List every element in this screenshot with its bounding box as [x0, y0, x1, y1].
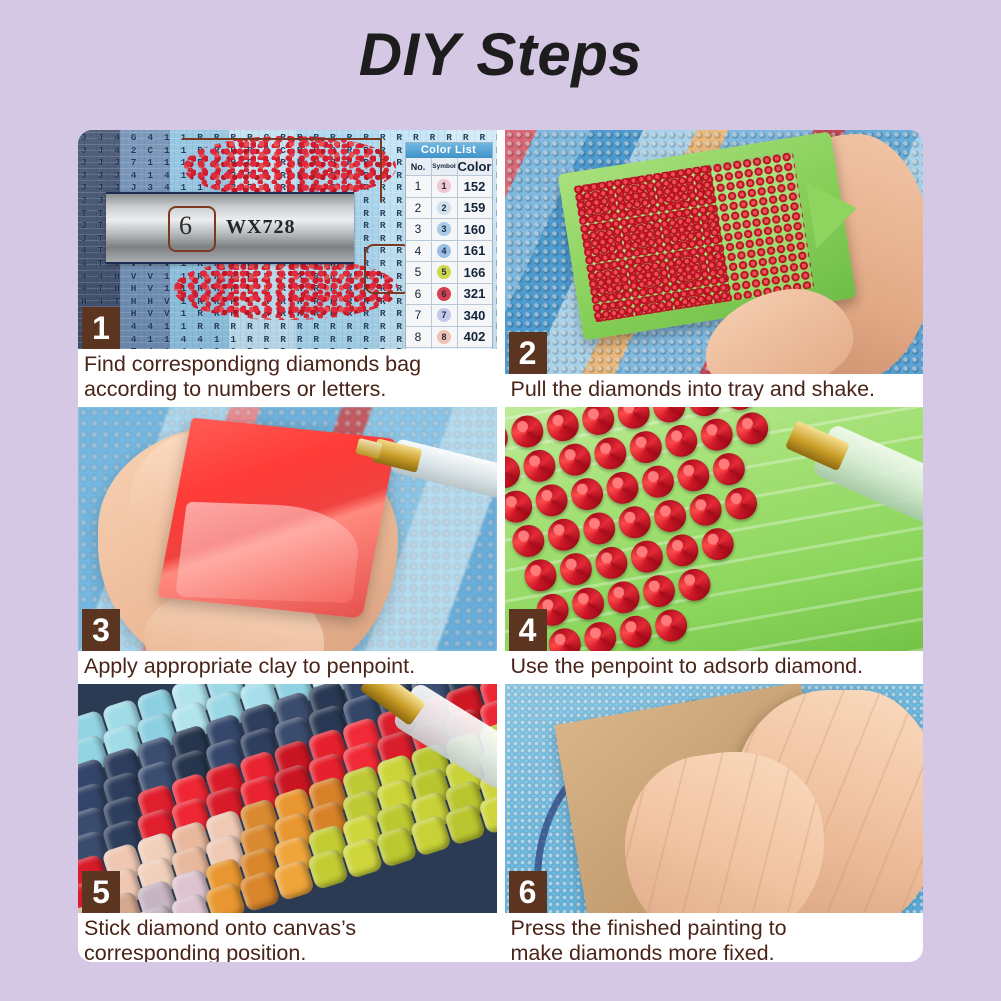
step-5-cell: 5 Stick diamond onto canvas’s correspond…	[78, 684, 497, 962]
red-diamond	[686, 407, 723, 419]
red-diamond	[650, 407, 687, 425]
red-diamond	[546, 626, 583, 651]
step-1-photo: J J 4 G 4 1 1 R R R R C R R R R R R R R …	[78, 130, 497, 349]
red-diamond	[557, 551, 594, 588]
step-4-cell: 4 Use the penpoint to adsorb diamond.	[505, 407, 924, 681]
red-diamond	[640, 573, 677, 610]
red-diamond	[687, 491, 724, 528]
step-6-badge: 6	[509, 871, 547, 913]
red-diamond	[505, 419, 510, 456]
red-diamond	[544, 407, 581, 444]
step-1-cell: J J 4 G 4 1 1 R R R R C R R R R R R R R …	[78, 130, 497, 404]
symbol-swatch-icon: 6	[437, 287, 451, 301]
color-list-symbol-cell: 6	[432, 284, 458, 305]
color-list-symbol-cell: 3	[432, 219, 458, 240]
symbol-swatch-icon: 3	[437, 222, 451, 236]
color-list-no: 7	[406, 305, 432, 326]
red-diamond	[639, 463, 676, 500]
red-diamond	[617, 613, 654, 650]
step-2-caption: Pull the diamonds into tray and shake.	[505, 374, 924, 404]
step-3-photo: 3	[78, 407, 497, 651]
red-diamond	[569, 585, 606, 622]
color-list-symbol-cell: A	[432, 348, 458, 349]
red-diamond	[699, 526, 736, 563]
color-list-row: 9A517	[406, 348, 492, 349]
red-diamond	[592, 544, 629, 581]
red-diamond	[651, 497, 688, 534]
color-list-no: 2	[406, 198, 432, 219]
color-list-row: 44161	[406, 241, 492, 263]
red-diamond	[581, 619, 618, 651]
color-list-color-code: 340	[458, 305, 492, 326]
color-list-row: 11152	[406, 176, 492, 198]
red-diamond	[533, 482, 570, 519]
step-3-badge: 3	[82, 609, 120, 651]
red-diamond	[722, 485, 759, 522]
symbol-swatch-icon: 7	[437, 308, 451, 322]
red-diamond	[662, 422, 699, 459]
color-list-row: 22159	[406, 198, 492, 220]
red-diamond-cluster-top	[184, 136, 396, 198]
color-list-symbol-cell: 7	[432, 305, 458, 326]
color-list-no: 9	[406, 348, 432, 349]
bag-number-highlight-box	[168, 206, 216, 252]
red-diamond	[710, 451, 747, 488]
symbol-swatch-icon: 2	[437, 201, 451, 215]
step-6-caption: Press the finished painting to make diam…	[505, 913, 924, 962]
color-list-no: 1	[406, 176, 432, 197]
red-diamond	[520, 447, 557, 484]
step-4-photo: 4	[505, 407, 924, 651]
symbol-swatch-icon: 1	[437, 179, 451, 193]
color-list-color-code: 161	[458, 241, 492, 262]
color-list-table: Color List No. Symbol Color 111522215933…	[405, 142, 493, 349]
steps-card: J J 4 G 4 1 1 R R R R C R R R R R R R R …	[78, 130, 923, 962]
bag-code: WX728	[226, 216, 295, 239]
clay-fold-highlight	[175, 502, 364, 603]
step-2-badge: 2	[509, 332, 547, 374]
header-symbol: Symbol	[432, 158, 458, 175]
red-diamond	[605, 579, 642, 616]
color-list-symbol-cell: 4	[432, 241, 458, 262]
red-diamond	[628, 538, 665, 575]
symbol-swatch-icon: 4	[437, 244, 451, 258]
color-list-row: 88402	[406, 327, 492, 349]
color-list-body: 1115222159331604416155166663217734088402…	[406, 176, 492, 349]
red-diamond	[505, 454, 523, 491]
color-list-no: 3	[406, 219, 432, 240]
step-1-caption: Find correspondigng diamonds bag accordi…	[78, 349, 497, 404]
header-no: No.	[406, 158, 432, 175]
color-list-header-row: No. Symbol Color	[406, 158, 492, 176]
step-4-badge: 4	[509, 609, 547, 651]
printed-canvas-chart: J J 4 G 4 1 1 R R R R C R R R R R R R R …	[78, 130, 497, 349]
tray-spout	[805, 175, 861, 249]
color-list-color-code: 402	[458, 327, 492, 348]
red-diamond-cluster-bottom	[174, 258, 398, 320]
red-diamond	[698, 416, 735, 453]
step-3-caption: Apply appropriate clay to penpoint.	[78, 651, 497, 681]
step-4-caption: Use the penpoint to adsorb diamond.	[505, 651, 924, 681]
color-list-symbol-cell: 8	[432, 327, 458, 348]
header-color: Color	[458, 158, 492, 175]
red-diamond	[580, 510, 617, 547]
color-list-color-code: 160	[458, 219, 492, 240]
red-diamond	[556, 441, 593, 478]
color-list-row: 77340	[406, 305, 492, 327]
color-list-row: 66321	[406, 284, 492, 306]
red-diamond	[674, 457, 711, 494]
color-list-row: 55166	[406, 262, 492, 284]
red-diamond	[545, 516, 582, 553]
page-title: DIY Steps	[0, 22, 1001, 88]
step-2-cell: 2 Pull the diamonds into tray and shake.	[505, 130, 924, 404]
red-diamond	[663, 532, 700, 569]
red-diamond	[652, 607, 689, 644]
color-list-symbol-cell: 5	[432, 262, 458, 283]
color-list-symbol-cell: 2	[432, 198, 458, 219]
step-2-photo: 2	[505, 130, 924, 374]
color-list-no: 8	[406, 327, 432, 348]
color-list-color-code: 321	[458, 284, 492, 305]
color-list-no: 4	[406, 241, 432, 262]
red-diamond	[615, 407, 652, 431]
red-diamond	[616, 504, 653, 541]
diamond-bag: 6 WX728	[106, 192, 354, 264]
step-3-cell: 3 Apply appropriate clay to penpoint.	[78, 407, 497, 681]
symbol-swatch-icon: 5	[437, 265, 451, 279]
color-list-no: 6	[406, 284, 432, 305]
red-diamond	[509, 522, 546, 559]
color-list-symbol-cell: 1	[432, 176, 458, 197]
bag-number: 6	[179, 211, 192, 241]
red-diamond	[603, 469, 640, 506]
color-list-color-code: 152	[458, 176, 492, 197]
step-6-cell: Bool 6 Press the finished painting to ma…	[505, 684, 924, 962]
step-5-caption: Stick diamond onto canvas’s correspondin…	[78, 913, 497, 962]
color-list-color-code: 166	[458, 262, 492, 283]
step-5-photo: 5	[78, 684, 497, 913]
step-1-badge: 1	[82, 307, 120, 349]
red-diamond	[505, 488, 535, 525]
step-6-photo: Bool 6	[505, 684, 924, 913]
color-list-title: Color List	[406, 143, 492, 158]
tray-red-diamonds-dense	[573, 165, 731, 323]
step-5-badge: 5	[82, 871, 120, 913]
red-diamond	[568, 476, 605, 513]
red-diamond	[579, 407, 616, 438]
color-list-row: 33160	[406, 219, 492, 241]
color-list-color-code: 159	[458, 198, 492, 219]
color-list-no: 5	[406, 262, 432, 283]
red-diamond	[675, 566, 712, 603]
red-diamond	[591, 435, 628, 472]
symbol-swatch-icon: 8	[437, 330, 451, 344]
red-diamond	[508, 413, 545, 450]
red-diamond	[521, 557, 558, 594]
color-list-color-code: 517	[458, 348, 492, 349]
red-diamond	[627, 429, 664, 466]
